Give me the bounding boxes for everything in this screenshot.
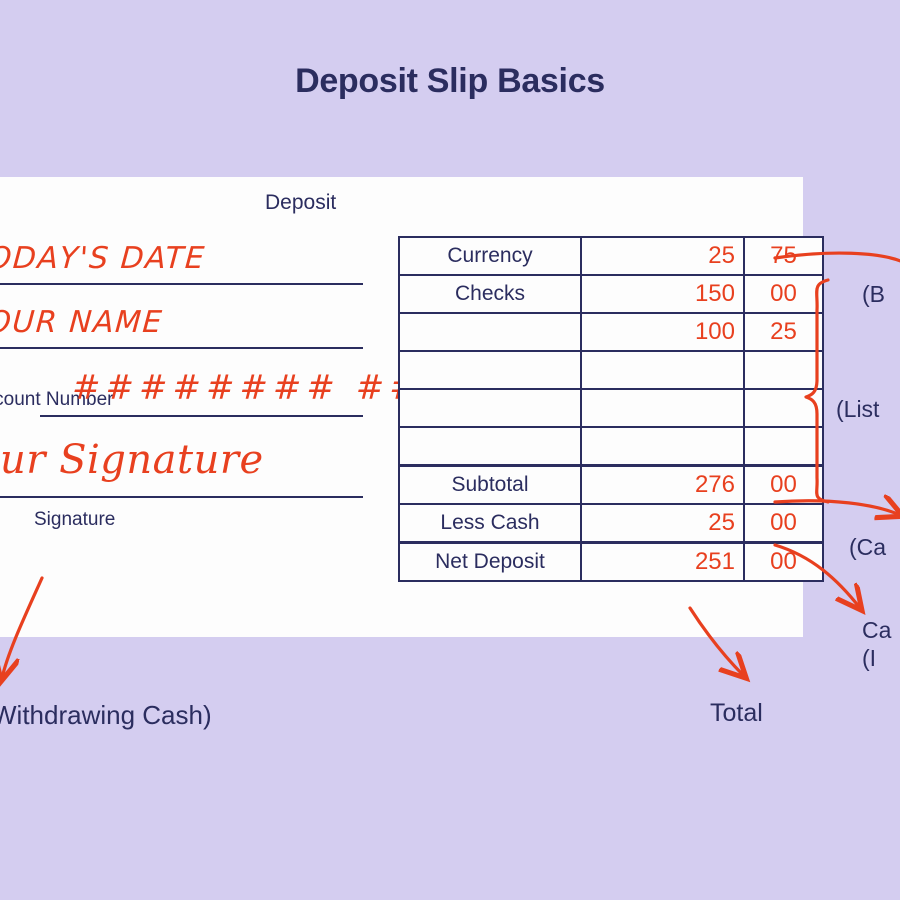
table-cell-label: Checks: [399, 275, 581, 313]
table-row: [399, 427, 823, 466]
table-cell-cents: [744, 389, 823, 427]
table-row: [399, 351, 823, 389]
table-cell-dollars: 150: [581, 275, 744, 313]
table-row: Checks15000: [399, 275, 823, 313]
table-cell-dollars: 25: [581, 504, 744, 543]
table-cell-dollars: [581, 351, 744, 389]
table-cell-dollars: 25: [581, 237, 744, 275]
infographic-canvas: Deposit Slip Basics Deposit TODAY'S DATE…: [0, 0, 900, 900]
table-cell-cents: 25: [744, 313, 823, 351]
table-cell-label: Currency: [399, 237, 581, 275]
table-row: [399, 389, 823, 427]
table-cell-cents: [744, 351, 823, 389]
subtotal-annotation: (Ca: [849, 534, 886, 561]
table-cell-dollars: [581, 389, 744, 427]
table-cell-dollars: [581, 427, 744, 466]
table-row: Net Deposit25100: [399, 543, 823, 582]
table-cell-cents: 00: [744, 275, 823, 313]
table-cell-cents: [744, 427, 823, 466]
table-cell-dollars: 276: [581, 466, 744, 505]
table-cell-label: [399, 389, 581, 427]
table-row: Currency2575: [399, 237, 823, 275]
name-rule: [0, 347, 363, 349]
table-cell-label: Subtotal: [399, 466, 581, 505]
account-number-handwriting: ######## ##: [72, 368, 423, 408]
table-cell-dollars: 100: [581, 313, 744, 351]
table-row: Subtotal27600: [399, 466, 823, 505]
table-cell-label: Net Deposit: [399, 543, 581, 582]
total-annotation: Total: [710, 699, 763, 729]
table-cell-cents: 00: [744, 543, 823, 582]
signature-handwriting: Your Signature: [0, 437, 264, 483]
date-handwriting: TODAY'S DATE: [0, 241, 207, 276]
table-cell-cents: 00: [744, 466, 823, 505]
table-cell-label: [399, 427, 581, 466]
less-cash-annotation-line2: (I: [862, 645, 876, 672]
table-row: 10025: [399, 313, 823, 351]
date-rule: [0, 283, 363, 285]
amount-table-body: Currency2575Checks1500010025Subtotal2760…: [399, 237, 823, 581]
amount-table: Currency2575Checks1500010025Subtotal2760…: [398, 236, 824, 582]
signature-rule: [0, 496, 363, 498]
less-cash-annotation-line1: Ca: [862, 617, 891, 644]
deposit-label: Deposit: [265, 191, 336, 215]
checks-annotation: (List: [836, 396, 879, 423]
signature-annotation: Withdrawing Cash): [0, 700, 212, 731]
account-number-rule: [40, 415, 363, 417]
table-cell-dollars: 251: [581, 543, 744, 582]
table-cell-cents: 00: [744, 504, 823, 543]
page-title: Deposit Slip Basics: [0, 62, 900, 101]
table-cell-label: [399, 313, 581, 351]
table-cell-cents: 75: [744, 237, 823, 275]
currency-annotation: (B: [862, 281, 885, 308]
table-cell-label: Less Cash: [399, 504, 581, 543]
table-row: Less Cash2500: [399, 504, 823, 543]
signature-caption: Signature: [34, 509, 115, 531]
table-cell-label: [399, 351, 581, 389]
name-handwriting: YOUR NAME: [0, 305, 164, 340]
